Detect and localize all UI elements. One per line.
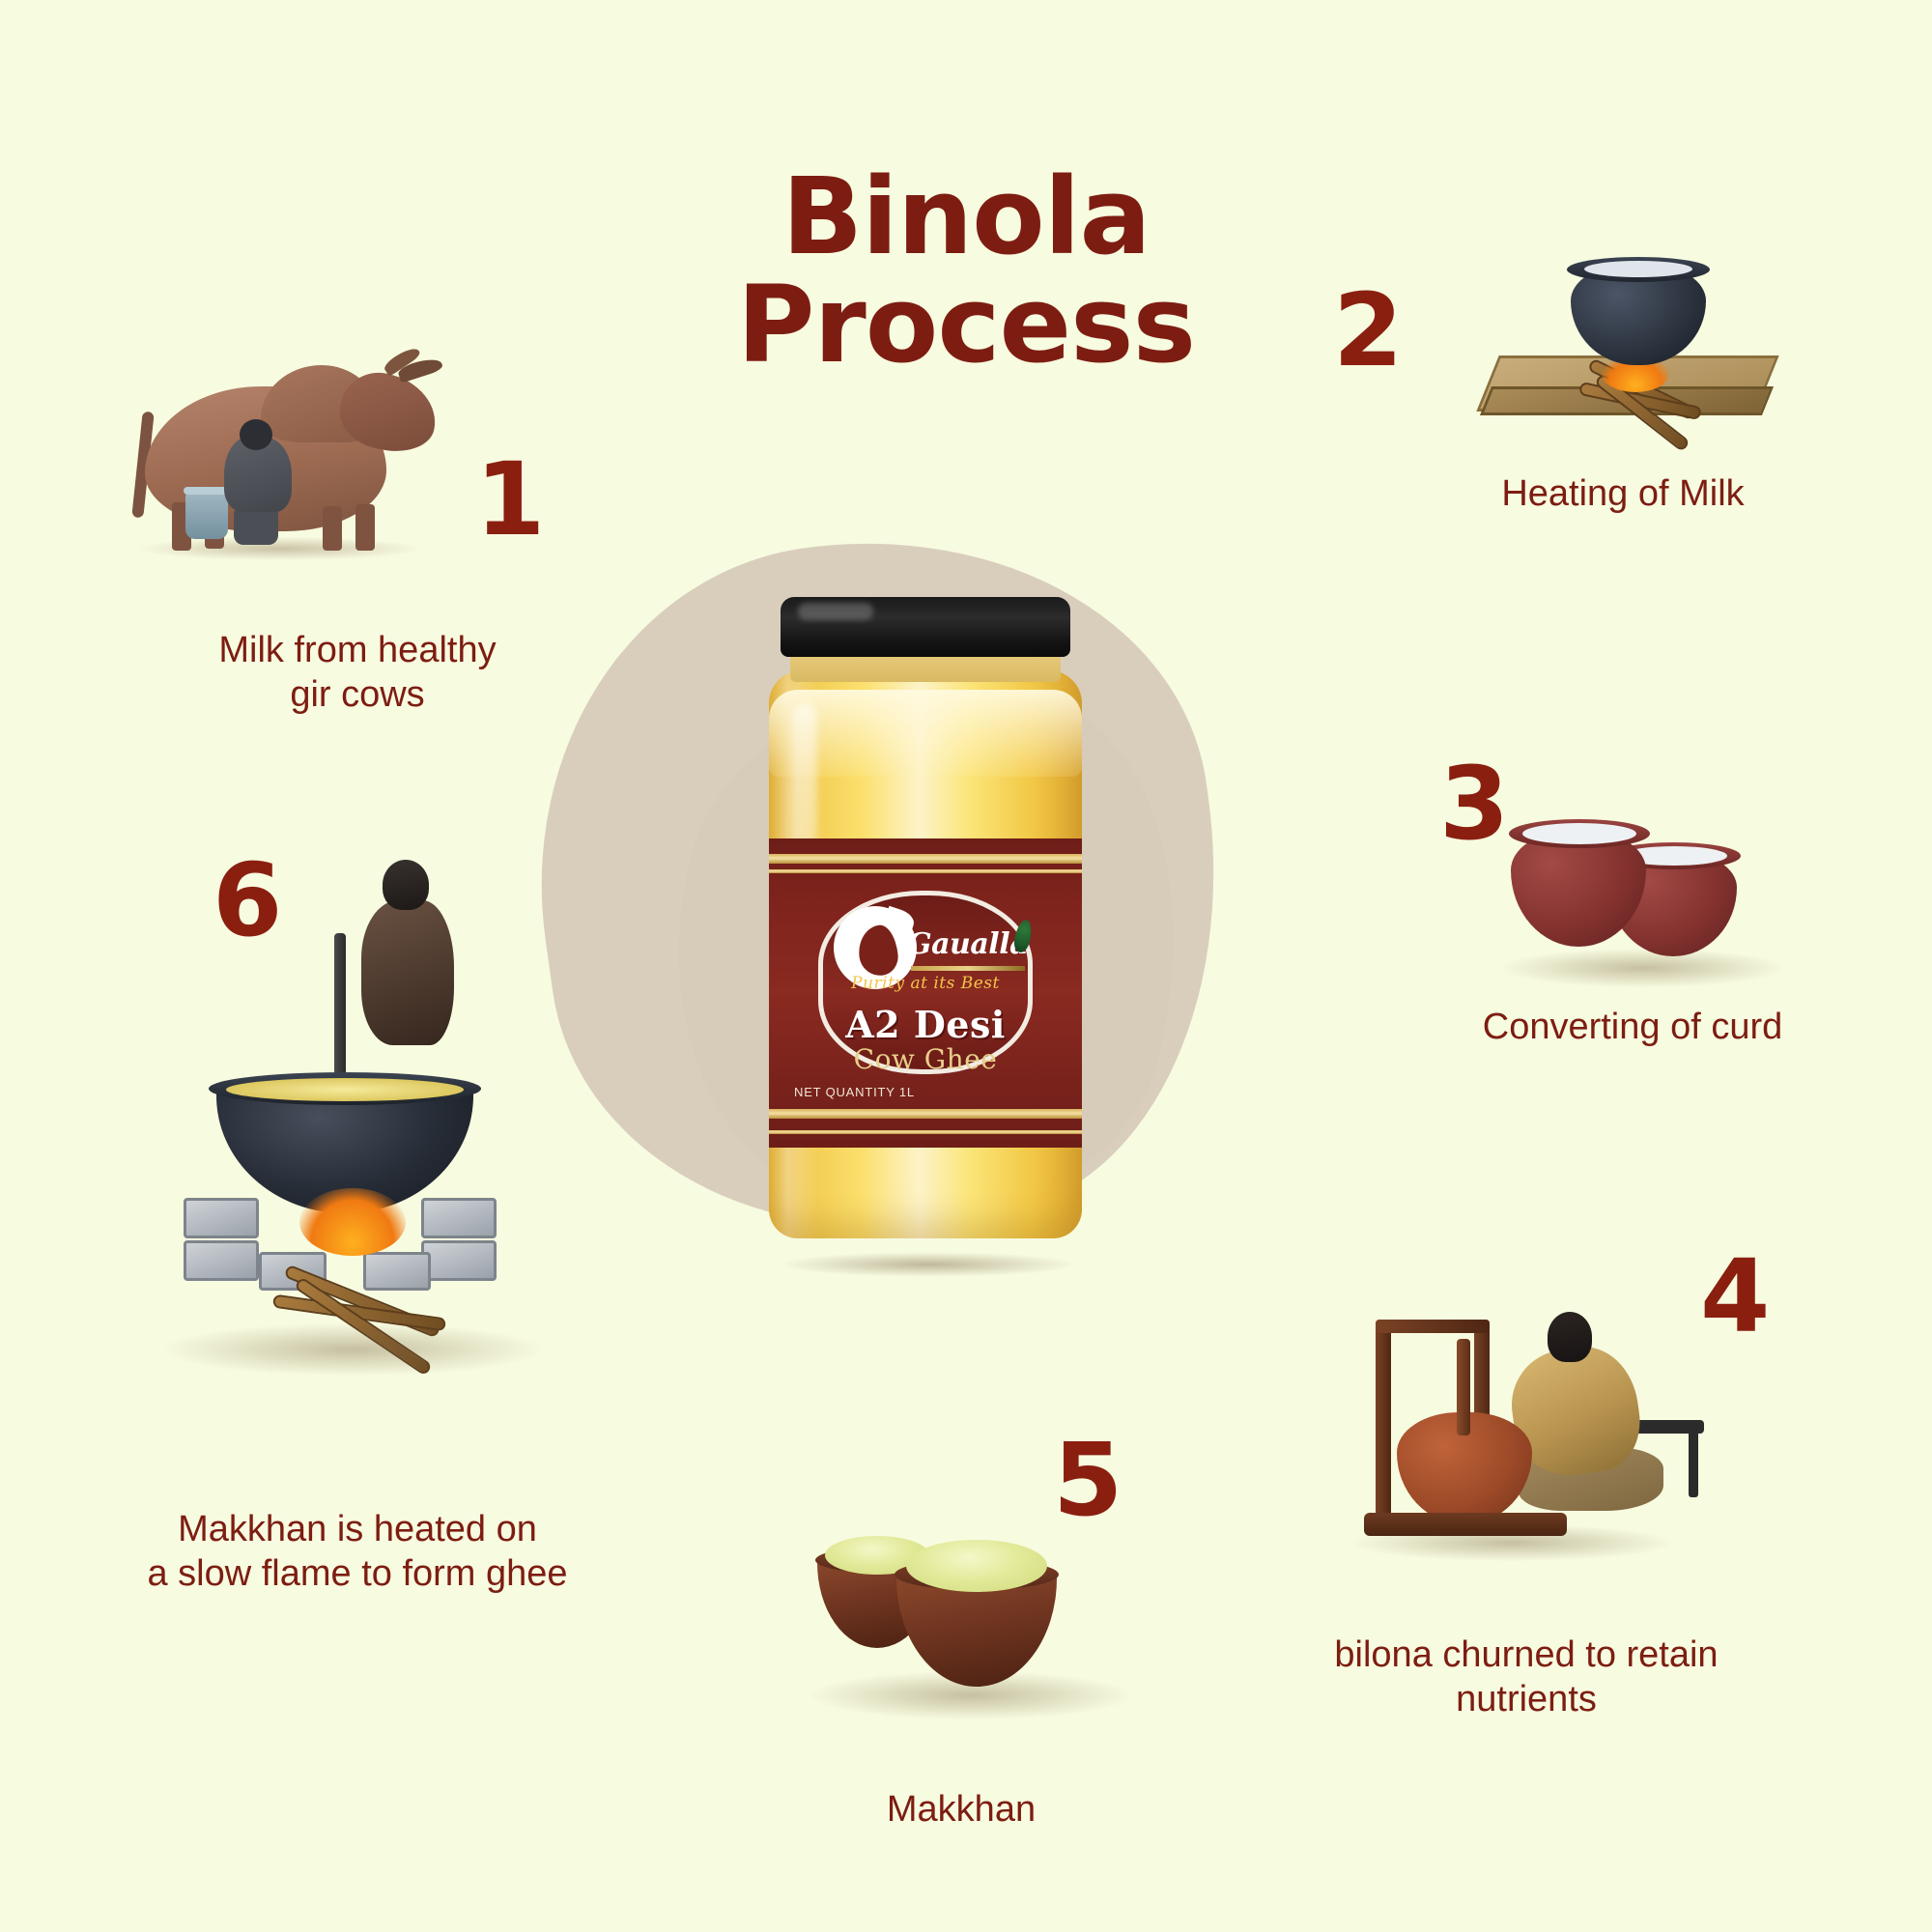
step-1: 1 Milk from healthy gir cows xyxy=(97,348,638,753)
step-6-caption: Makkhan is heated on a slow flame to for… xyxy=(29,1507,686,1597)
butter-bowls-icon xyxy=(811,1526,1140,1739)
stove-brick-3 xyxy=(421,1198,497,1238)
infographic-canvas: Binola Process Gaualla Purity at its Bes… xyxy=(0,0,1932,1932)
pot-on-fire-icon xyxy=(1478,241,1787,454)
step-1-caption: Milk from healthy gir cows xyxy=(97,628,618,718)
step-3: 3 Converting of curd xyxy=(1391,734,1893,1053)
butter-mound-front xyxy=(906,1540,1047,1592)
woman-stirring-body xyxy=(361,900,454,1045)
step-2-number: 2 xyxy=(1333,280,1403,381)
step-5-caption: Makkhan xyxy=(734,1787,1188,1832)
step-2-caption: Heating of Milk xyxy=(1372,471,1874,516)
bilona-churn-icon xyxy=(1343,1285,1729,1575)
step-1-number: 1 xyxy=(475,449,545,550)
kadai-on-fire-icon xyxy=(155,1005,560,1430)
product-name-line-2: Cow Ghee xyxy=(818,1043,1033,1075)
step-2: 2 Heating of Milk xyxy=(1333,241,1874,560)
curd-pots-icon xyxy=(1497,802,1797,995)
woman-stirring-head xyxy=(383,860,429,910)
product-name-line-1: A2 Desi xyxy=(818,1003,1033,1046)
milker-legs xyxy=(234,508,278,545)
step-5: 5 Makkhan xyxy=(734,1430,1198,1835)
step-6-number: 6 xyxy=(213,850,282,951)
charpai-leg-right xyxy=(1689,1430,1698,1497)
step-4: 4 bilona churned to retain nutrients xyxy=(1236,1246,1835,1710)
churn-crossbar xyxy=(1376,1320,1490,1333)
stove-flame xyxy=(299,1188,406,1256)
net-quantity: NET QUANTITY 1L xyxy=(794,1085,915,1099)
step-6: 6 Makkhan is heated on a slow flame to f… xyxy=(58,927,657,1604)
step-3-caption: Converting of curd xyxy=(1372,1005,1893,1049)
woman-head xyxy=(1548,1312,1592,1362)
stove-brick-4 xyxy=(421,1240,497,1281)
kadai-ghee-surface xyxy=(226,1078,464,1101)
milker-head xyxy=(240,419,272,450)
brand-badge: Gaualla Purity at its Best A2 Desi Cow G… xyxy=(818,891,1033,1074)
label-gold-band-top-thin xyxy=(769,869,1082,873)
brand-underline xyxy=(911,966,1025,971)
product-jar: Gaualla Purity at its Best A2 Desi Cow G… xyxy=(734,597,1121,1273)
jar-lid xyxy=(781,597,1070,657)
churn-base xyxy=(1364,1513,1567,1536)
curd-pots-shadow xyxy=(1503,949,1783,987)
cow-leg-3 xyxy=(323,506,342,551)
churn-rod xyxy=(1457,1339,1470,1435)
label-gold-band-bottom-thin xyxy=(769,1130,1082,1134)
stove-brick-1 xyxy=(184,1198,259,1238)
cow-milking-icon xyxy=(116,348,464,570)
cow-leg-4 xyxy=(355,504,375,551)
stove-brick-2 xyxy=(184,1240,259,1281)
stove-brick-6 xyxy=(363,1252,431,1291)
stove-ground-shadow xyxy=(164,1323,541,1376)
label-gold-band-bottom xyxy=(769,1109,1082,1119)
step-5-number: 5 xyxy=(1053,1430,1122,1530)
milk-surface xyxy=(1584,261,1692,277)
curd-front-surface xyxy=(1522,823,1636,844)
jar-neck xyxy=(790,653,1061,682)
label-gold-band-top xyxy=(769,854,1082,864)
brand-tagline: Purity at its Best xyxy=(818,974,1033,993)
step-4-caption: bilona churned to retain nutrients xyxy=(1236,1633,1816,1722)
product-label: Gaualla Purity at its Best A2 Desi Cow G… xyxy=(769,838,1082,1148)
churn-post-left xyxy=(1376,1320,1391,1517)
milk-bucket xyxy=(185,493,228,539)
